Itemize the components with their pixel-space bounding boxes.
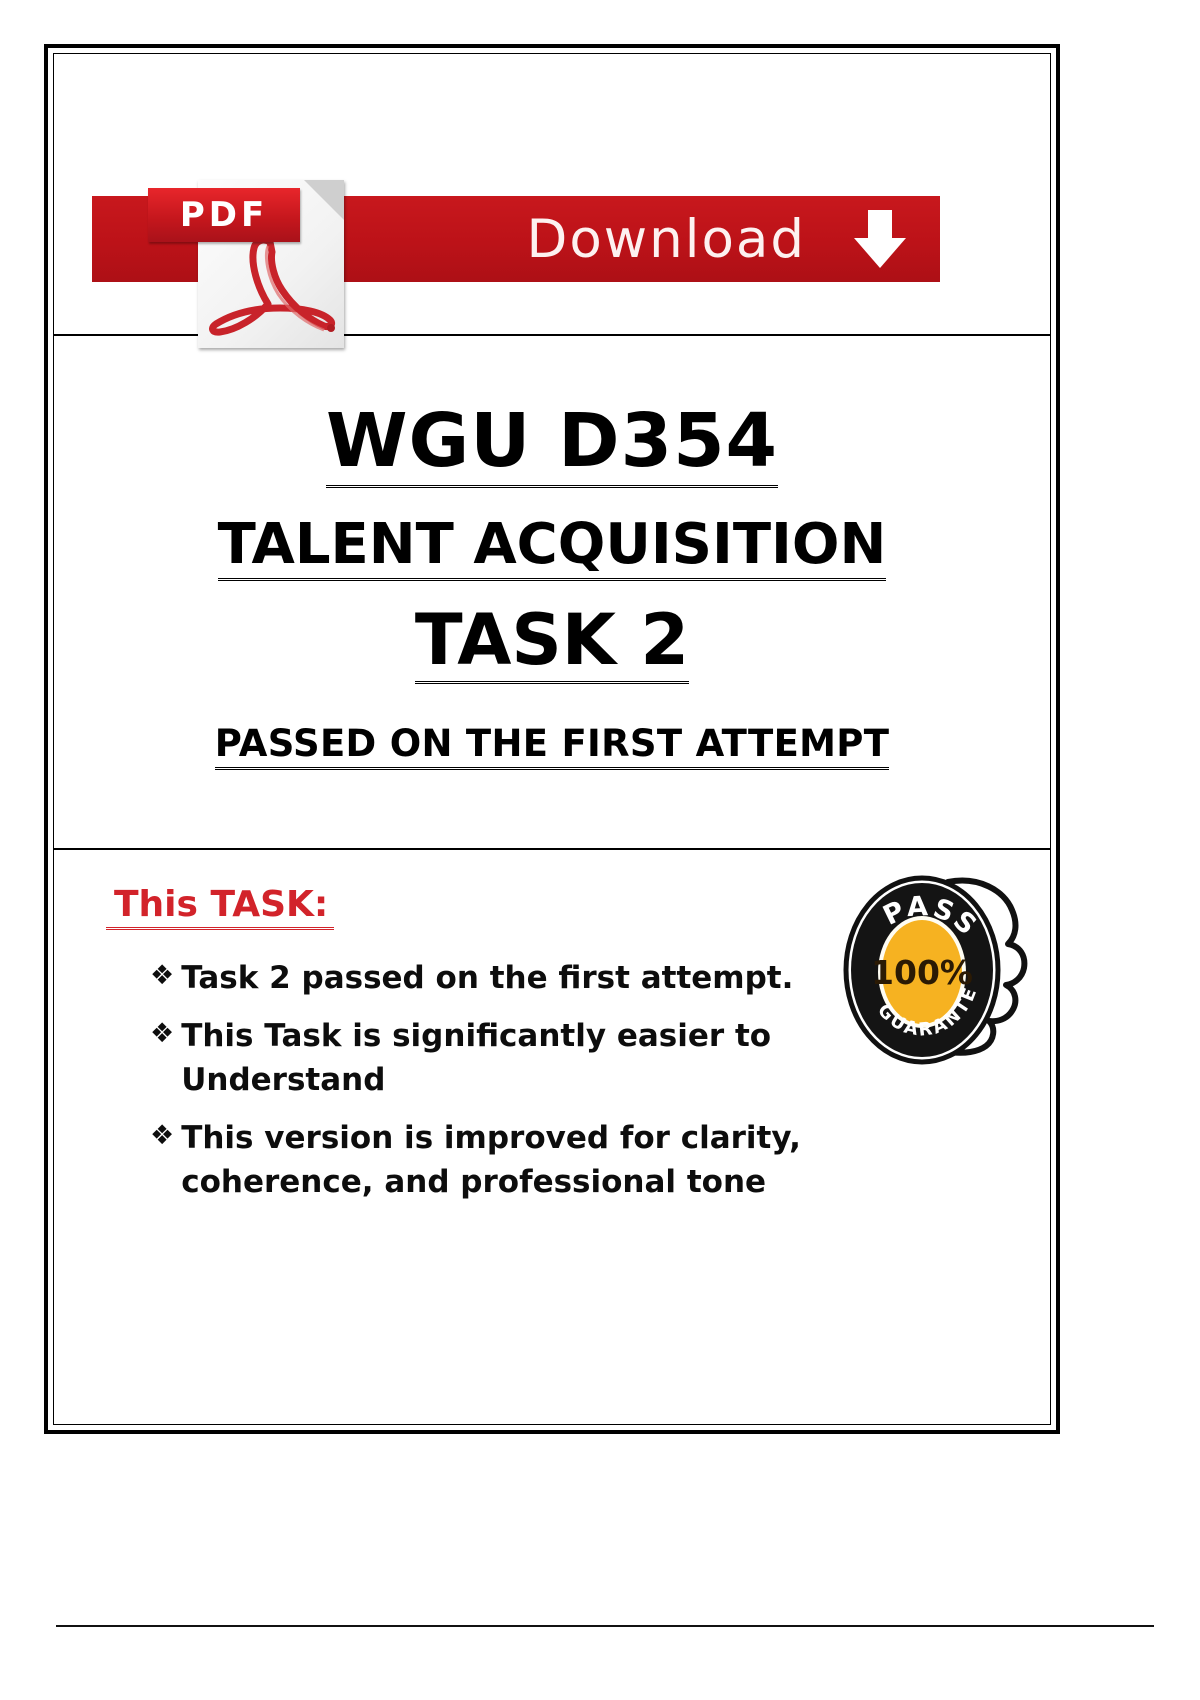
pdf-page-fold <box>304 180 344 220</box>
download-banner-section: Download PDF <box>54 54 1050 336</box>
list-item: ❖ This version is improved for clarity, … <box>150 1116 870 1204</box>
pdf-file-icon[interactable]: PDF <box>148 158 348 348</box>
badge-center-text: 100% <box>871 953 973 992</box>
acrobat-swirl-icon <box>206 236 338 340</box>
download-label: Download <box>527 213 806 266</box>
download-arrow-icon <box>854 210 906 268</box>
task-name: TASK 2 <box>415 603 689 685</box>
task-details-section: This TASK: ❖ Task 2 passed on the first … <box>54 850 1050 1424</box>
document-frame-outer: Download PDF <box>44 44 1060 1434</box>
pdf-label-badge: PDF <box>148 188 300 242</box>
list-item: ❖ This Task is significantly easier to U… <box>150 1014 870 1102</box>
page-title: WGU D354 <box>326 402 778 488</box>
diamond-bullet-icon: ❖ <box>150 956 174 997</box>
title-section: WGU D354 TALENT ACQUISITION TASK 2 PASSE… <box>54 336 1050 850</box>
this-task-heading: This TASK: <box>106 884 334 930</box>
list-item-label: Task 2 passed on the first attempt. <box>181 956 870 1000</box>
diamond-bullet-icon: ❖ <box>150 1014 174 1055</box>
pass-guarantee-badge: PASS GUARANTEED 100% <box>828 858 1032 1088</box>
pass-statement: PASSED ON THE FIRST ATTEMPT <box>215 724 889 770</box>
list-item: ❖ Task 2 passed on the first attempt. <box>150 956 870 1000</box>
task-bullet-list: ❖ Task 2 passed on the first attempt. ❖ … <box>150 956 870 1204</box>
footer-divider <box>56 1625 1154 1627</box>
document-frame-inner: Download PDF <box>53 53 1051 1425</box>
document-page: Download PDF <box>0 0 1200 1700</box>
diamond-bullet-icon: ❖ <box>150 1116 174 1157</box>
pdf-label-text: PDF <box>180 195 268 235</box>
list-item-label: This version is improved for clarity, co… <box>181 1116 870 1204</box>
list-item-label: This Task is significantly easier to Und… <box>181 1014 870 1102</box>
course-name: TALENT ACQUISITION <box>218 514 887 581</box>
